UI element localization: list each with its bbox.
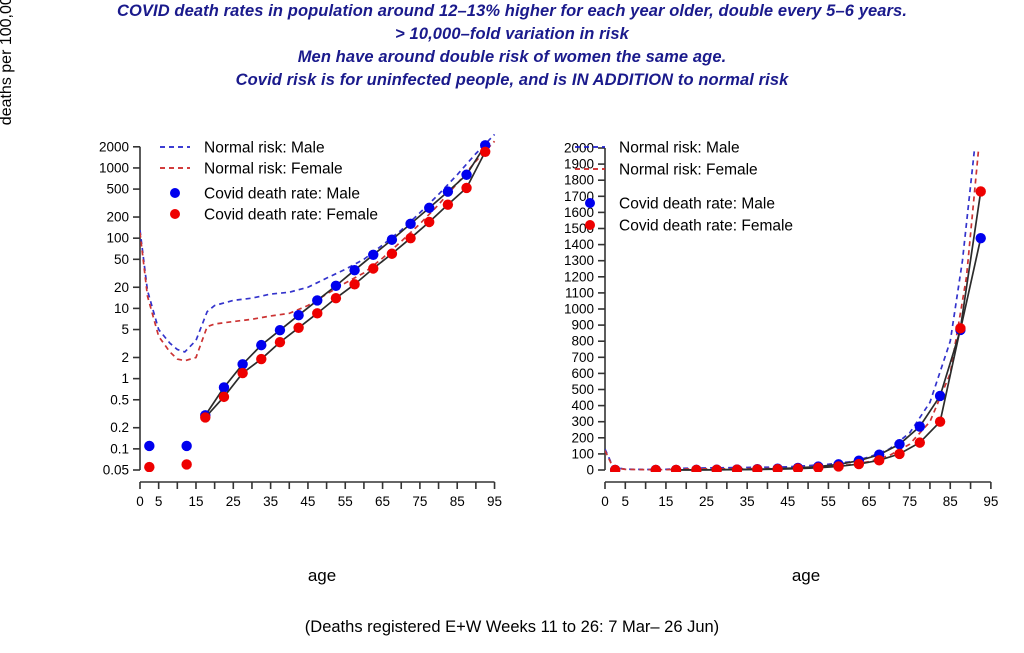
data-point bbox=[237, 368, 247, 378]
x-tick-label: 5 bbox=[155, 494, 163, 509]
x-tick-label: 65 bbox=[862, 494, 877, 509]
y-tick-label: 2000 bbox=[99, 139, 129, 154]
x-axis-title-left: age bbox=[222, 566, 422, 586]
data-point bbox=[331, 281, 341, 291]
y-tick-label: 1300 bbox=[564, 253, 594, 268]
title-line-1: COVID death rates in population around 1… bbox=[0, 0, 1024, 23]
x-tick-label: 15 bbox=[188, 494, 203, 509]
legend-dot-swatch bbox=[170, 209, 180, 219]
x-tick-label: 0 bbox=[136, 494, 144, 509]
y-tick-label: 200 bbox=[106, 210, 129, 225]
legend-label: Covid death rate: Female bbox=[619, 218, 793, 235]
legend-label: Normal risk: Female bbox=[619, 162, 758, 179]
title-line-3: Men have around double risk of women the… bbox=[0, 46, 1024, 69]
data-point bbox=[610, 465, 620, 475]
data-point bbox=[368, 250, 378, 260]
data-point bbox=[181, 459, 191, 469]
chart-legend: Normal risk: MaleNormal risk: FemaleCovi… bbox=[160, 140, 378, 224]
data-point bbox=[200, 412, 210, 422]
data-point bbox=[976, 233, 986, 243]
data-point bbox=[712, 465, 722, 475]
data-point bbox=[256, 340, 266, 350]
data-point bbox=[424, 217, 434, 227]
y-tick-label: 50 bbox=[114, 252, 129, 267]
title-line-2: > 10,000–fold variation in risk bbox=[0, 23, 1024, 46]
data-point bbox=[219, 392, 229, 402]
x-tick-label: 95 bbox=[983, 494, 998, 509]
data-point bbox=[293, 323, 303, 333]
legend-label: Normal risk: Female bbox=[204, 161, 343, 178]
y-tick-label: 2000 bbox=[564, 141, 594, 156]
data-point bbox=[935, 417, 945, 427]
data-point bbox=[752, 464, 762, 474]
data-point bbox=[405, 233, 415, 243]
data-point bbox=[461, 183, 471, 193]
log-chart-svg: 0.050.10.20.5125102050100200500100020000… bbox=[0, 120, 520, 540]
covid-rate-connector bbox=[676, 238, 981, 470]
x-tick-label: 55 bbox=[338, 494, 353, 509]
x-tick-label: 25 bbox=[226, 494, 241, 509]
data-point bbox=[387, 249, 397, 259]
legend-dot-swatch bbox=[170, 188, 180, 198]
x-tick-label: 75 bbox=[412, 494, 427, 509]
x-axis-title-right: age bbox=[706, 566, 906, 586]
data-point bbox=[368, 263, 378, 273]
log-scale-chart-panel: 0.050.10.20.5125102050100200500100020000… bbox=[0, 120, 520, 540]
y-tick-label: 200 bbox=[571, 430, 594, 445]
x-tick-label: 85 bbox=[943, 494, 958, 509]
data-point bbox=[935, 391, 945, 401]
data-point bbox=[312, 308, 322, 318]
title-line-4: Covid risk is for uninfected people, and… bbox=[0, 69, 1024, 92]
data-point bbox=[405, 219, 415, 229]
y-tick-label: 5 bbox=[121, 322, 129, 337]
data-point bbox=[293, 310, 303, 320]
y-tick-label: 600 bbox=[571, 366, 594, 381]
x-tick-label: 55 bbox=[821, 494, 836, 509]
y-tick-label: 900 bbox=[571, 318, 594, 333]
data-point bbox=[915, 437, 925, 447]
legend-label: Covid death rate: Male bbox=[619, 196, 775, 213]
data-point bbox=[732, 464, 742, 474]
x-tick-label: 65 bbox=[375, 494, 390, 509]
legend-label: Covid death rate: Male bbox=[204, 186, 360, 203]
y-tick-label: 0.05 bbox=[103, 463, 129, 478]
legend-label: Normal risk: Male bbox=[619, 140, 740, 157]
y-tick-label: 300 bbox=[571, 414, 594, 429]
y-tick-label: 1000 bbox=[99, 160, 129, 175]
data-point bbox=[793, 463, 803, 473]
chart-footnote: (Deaths registered E+W Weeks 11 to 26: 7… bbox=[0, 618, 1024, 637]
data-point bbox=[772, 464, 782, 474]
x-tick-label: 0 bbox=[601, 494, 609, 509]
y-tick-label: 0.1 bbox=[110, 441, 129, 456]
data-point bbox=[651, 465, 661, 475]
x-tick-label: 45 bbox=[300, 494, 315, 509]
data-point bbox=[461, 170, 471, 180]
data-point bbox=[443, 199, 453, 209]
x-tick-label: 35 bbox=[263, 494, 278, 509]
y-tick-label: 100 bbox=[571, 446, 594, 461]
y-tick-label: 1000 bbox=[564, 302, 594, 317]
data-point bbox=[312, 295, 322, 305]
data-point bbox=[894, 439, 904, 449]
x-tick-label: 5 bbox=[622, 494, 630, 509]
y-tick-label: 10 bbox=[114, 301, 129, 316]
y-tick-label: 800 bbox=[571, 334, 594, 349]
y-tick-label: 1100 bbox=[565, 285, 594, 300]
y-tick-label: 100 bbox=[106, 231, 129, 246]
x-tick-label: 45 bbox=[780, 494, 795, 509]
y-tick-label: 1400 bbox=[564, 237, 594, 252]
data-point bbox=[443, 186, 453, 196]
data-point bbox=[955, 323, 965, 333]
data-point bbox=[691, 465, 701, 475]
legend-label: Covid death rate: Female bbox=[204, 207, 378, 224]
data-point bbox=[387, 235, 397, 245]
data-point bbox=[854, 459, 864, 469]
data-point bbox=[144, 441, 154, 451]
linear-chart-svg: 0100200300400500600700800900100011001200… bbox=[520, 120, 1024, 540]
chart-legend: Normal risk: MaleNormal risk: FemaleCovi… bbox=[575, 140, 793, 235]
x-tick-label: 95 bbox=[487, 494, 502, 509]
y-tick-label: 400 bbox=[571, 398, 594, 413]
y-tick-label: 500 bbox=[571, 382, 594, 397]
legend-label: Normal risk: Male bbox=[204, 140, 325, 157]
data-point bbox=[275, 337, 285, 347]
data-point bbox=[256, 354, 266, 364]
data-point bbox=[349, 265, 359, 275]
data-point bbox=[480, 147, 490, 157]
y-tick-label: 1200 bbox=[564, 269, 594, 284]
legend-dot-swatch bbox=[585, 220, 595, 230]
data-point bbox=[275, 325, 285, 335]
data-point bbox=[813, 463, 823, 473]
data-point bbox=[874, 455, 884, 465]
data-point bbox=[976, 186, 986, 196]
data-point bbox=[915, 421, 925, 431]
data-point bbox=[424, 203, 434, 213]
y-tick-label: 500 bbox=[106, 182, 129, 197]
y-tick-label: 20 bbox=[114, 280, 129, 295]
y-tick-label: 0 bbox=[586, 463, 594, 478]
x-tick-label: 75 bbox=[902, 494, 917, 509]
data-point bbox=[181, 441, 191, 451]
x-tick-label: 85 bbox=[450, 494, 465, 509]
chart-title-block: COVID death rates in population around 1… bbox=[0, 0, 1024, 92]
data-point bbox=[671, 465, 681, 475]
legend-dot-swatch bbox=[585, 198, 595, 208]
y-tick-label: 0.5 bbox=[110, 392, 129, 407]
y-tick-label: 700 bbox=[571, 350, 594, 365]
y-tick-label: 0.2 bbox=[110, 420, 129, 435]
y-tick-label: 2 bbox=[121, 350, 129, 365]
data-point bbox=[833, 461, 843, 471]
data-point bbox=[894, 449, 904, 459]
linear-scale-chart-panel: 0100200300400500600700800900100011001200… bbox=[520, 120, 1024, 540]
x-tick-label: 35 bbox=[740, 494, 755, 509]
data-point bbox=[331, 293, 341, 303]
y-tick-label: 1800 bbox=[564, 173, 594, 188]
y-axis-title-left: deaths per 100,000 people bbox=[0, 0, 16, 180]
y-tick-label: 1 bbox=[121, 371, 129, 386]
data-point bbox=[144, 462, 154, 472]
data-point bbox=[349, 279, 359, 289]
x-tick-label: 25 bbox=[699, 494, 714, 509]
x-tick-label: 15 bbox=[658, 494, 673, 509]
